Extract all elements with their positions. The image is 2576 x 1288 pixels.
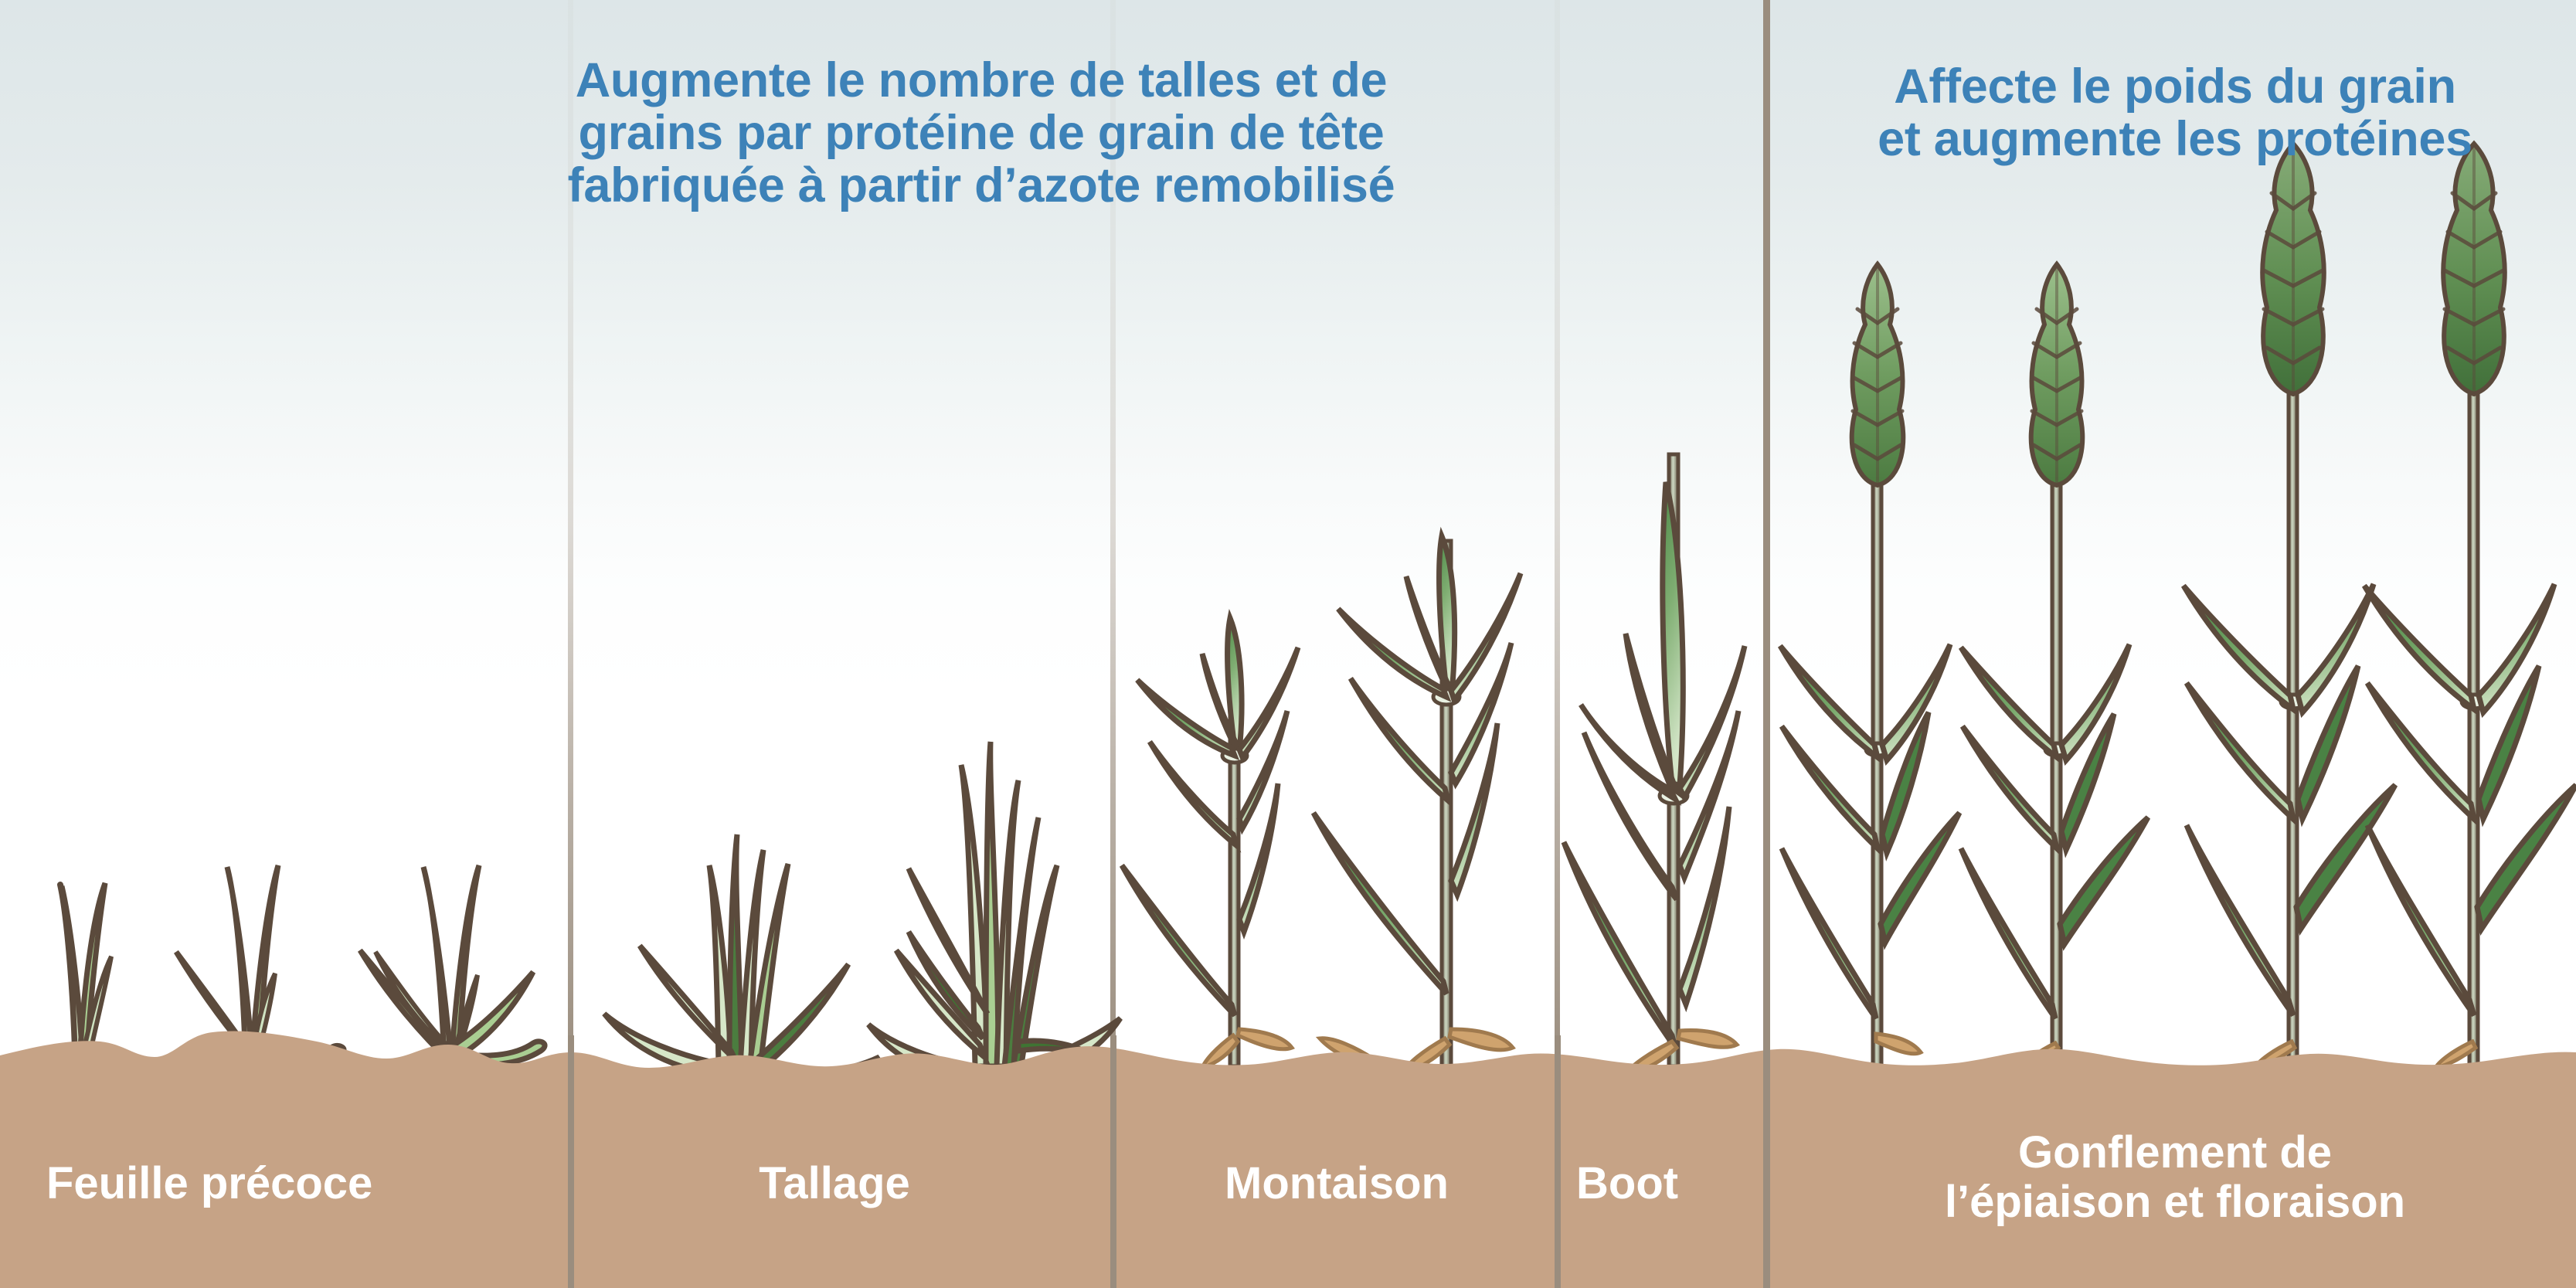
- jointing-plant-1: [1122, 618, 1298, 1068]
- heading-plant-3: [2183, 144, 2395, 1068]
- plant-group-jointing: [1122, 536, 1521, 1072]
- stage-label-early-leaf: Feuille précoce: [46, 1159, 525, 1208]
- wheat-spike-2: [2031, 264, 2083, 485]
- heading-plant-1: [1780, 264, 1959, 1066]
- stage-label-boot: Boot: [1576, 1159, 1754, 1208]
- seedling-3: [360, 865, 545, 1074]
- stage-label-heading-flowering: Gonflement de l’épiaison et floraison: [1777, 1128, 2573, 1227]
- jointing-plant-2: [1313, 536, 1521, 1072]
- wheat-spike-1: [1852, 264, 1904, 485]
- stage-label-jointing: Montaison: [1128, 1159, 1545, 1208]
- wheat-growth-stage-diagram: Augmente le nombre de talles et de grain…: [0, 0, 2576, 1288]
- wheat-spike-4: [2443, 144, 2505, 394]
- stage-label-tillering: Tallage: [587, 1159, 1082, 1208]
- plant-group-boot: [1564, 454, 1745, 1074]
- heading-plant-2: [1961, 264, 2148, 1068]
- plant-group-heading-flowering: [1780, 144, 2576, 1068]
- heading-tillering-note: Augmente le nombre de talles et de grain…: [433, 54, 1530, 212]
- seedling-1: [60, 883, 111, 1048]
- divider-heading-panel: [1763, 0, 1770, 1288]
- heading-grain-weight-note: Affecte le poids du grain et augmente le…: [1785, 60, 2565, 165]
- heading-plant-4: [2364, 144, 2576, 1068]
- wheat-spike-3: [2262, 144, 2324, 394]
- boot-plant-1: [1564, 454, 1745, 1074]
